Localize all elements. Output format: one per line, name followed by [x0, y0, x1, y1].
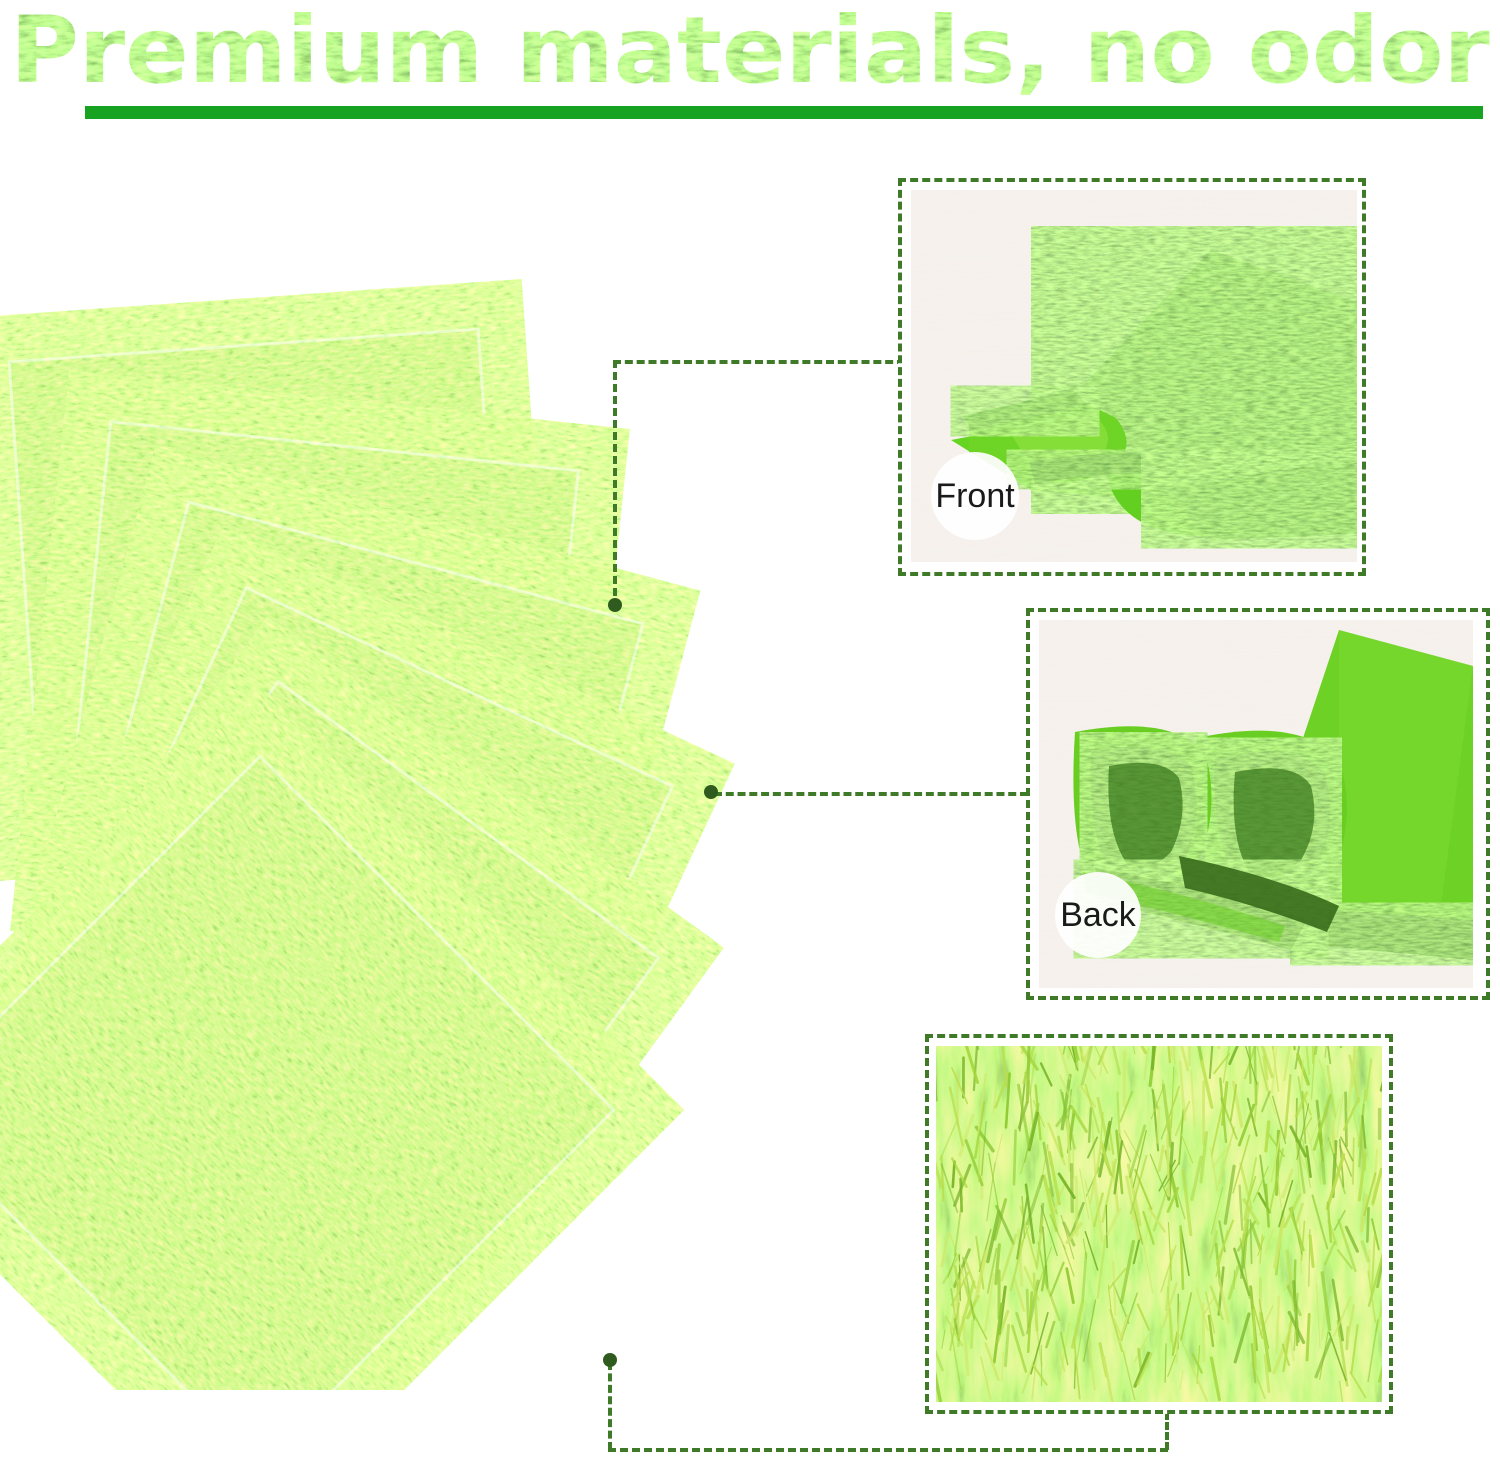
- connector-closeup-dot: [603, 1353, 617, 1367]
- connector-front-horizontal: [613, 360, 905, 364]
- badge-back: Back: [1055, 872, 1141, 958]
- badge-front-label: Front: [935, 477, 1014, 516]
- connector-front-dot: [608, 598, 622, 612]
- product-stack: [0, 250, 780, 1390]
- badge-front: Front: [931, 452, 1019, 540]
- headline-underline-bar: [85, 106, 1483, 119]
- badge-back-label: Back: [1060, 896, 1136, 935]
- connector-front-vertical: [613, 360, 617, 608]
- connector-back-horizontal: [714, 792, 1028, 796]
- grass-closeup-photo-graphic: [936, 1046, 1382, 1402]
- headline-block: Premium materials, no odor: [0, 0, 1500, 130]
- connector-closeup-horizontal: [608, 1448, 1168, 1452]
- product-marketing-image: Premium materials, no odor: [0, 0, 1500, 1461]
- connector-closeup-vertical: [608, 1362, 612, 1450]
- headline-text-graphic: Premium materials, no odor: [0, 4, 1500, 108]
- turf-tiles-graphic: [0, 250, 780, 1390]
- connector-closeup-stub: [1165, 1412, 1169, 1450]
- callout-closeup-photo: [936, 1046, 1382, 1402]
- connector-back-dot: [704, 785, 718, 799]
